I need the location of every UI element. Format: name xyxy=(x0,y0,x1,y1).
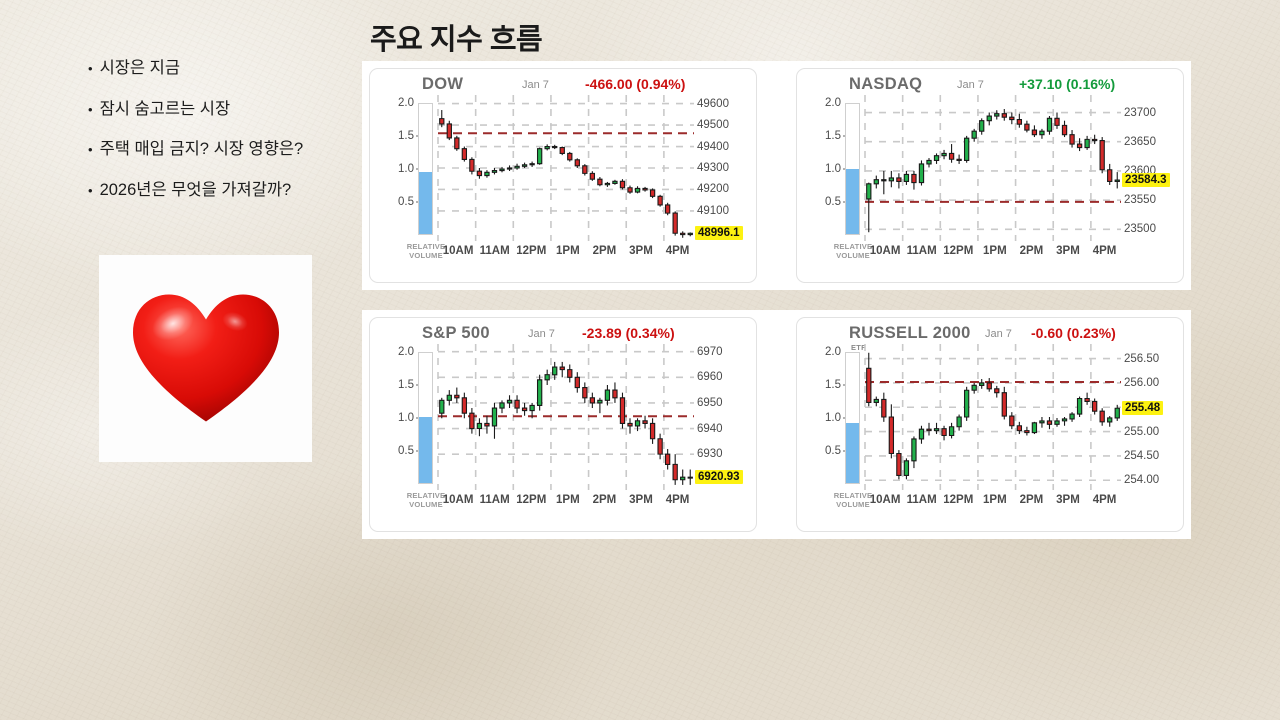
volume-tick-label: 1.5 xyxy=(805,130,841,142)
price-axis: 256.50256.00255.50255.00254.50254.00255.… xyxy=(1121,344,1181,490)
relative-volume-fill xyxy=(846,169,859,234)
time-tick-label: 10AM xyxy=(443,245,474,257)
time-tick-label: 12PM xyxy=(943,245,973,257)
relative-volume-bar xyxy=(845,352,860,484)
price-tick-label: 6960 xyxy=(697,371,723,383)
bullet-marker-icon: • xyxy=(88,184,93,197)
candlestick-plot[interactable] xyxy=(438,344,694,490)
chart-card-dow[interactable]: DOWJan 7-466.00 (0.94%)2.01.51.00.5RELAT… xyxy=(369,68,757,283)
time-tick-label: 12PM xyxy=(516,494,546,506)
relative-volume-bar xyxy=(418,103,433,235)
price-tick-label: 49200 xyxy=(697,183,729,195)
bullet-text: 2026년은 무엇을 가져갈까? xyxy=(100,180,292,201)
volume-tick-label: 1.0 xyxy=(805,163,841,175)
volume-tick-label: 1.5 xyxy=(805,379,841,391)
price-tick-label: 6930 xyxy=(697,448,723,460)
price-tick-label: 6970 xyxy=(697,346,723,358)
time-tick-label: 11AM xyxy=(907,245,937,257)
price-tick-label: 254.50 xyxy=(1124,450,1159,462)
index-subtitle: ETF xyxy=(851,343,866,352)
price-tick-label: 23550 xyxy=(1124,194,1156,206)
price-tick-label: 23700 xyxy=(1124,107,1156,119)
time-tick-label: 2PM xyxy=(593,245,617,257)
volume-tick-label: 1.0 xyxy=(378,412,414,424)
price-tick-label: 6950 xyxy=(697,397,723,409)
relative-volume-bar xyxy=(845,103,860,235)
time-tick-label: 3PM xyxy=(629,494,653,506)
price-axis: 697069606950694069306920.93 xyxy=(694,344,754,490)
volume-tick-label: 2.0 xyxy=(805,346,841,358)
chart-panel-row-top: DOWJan 7-466.00 (0.94%)2.01.51.00.5RELAT… xyxy=(362,61,1191,290)
heart-image xyxy=(99,255,312,462)
price-tick-label: 255.00 xyxy=(1124,426,1159,438)
change-value: -0.60 (0.23%) xyxy=(1031,325,1116,341)
bullet-text: 잠시 숨고르는 시장 xyxy=(100,99,231,120)
relative-volume-bar xyxy=(418,352,433,484)
volume-axis: 2.01.51.00.5 xyxy=(378,352,414,484)
chart-date: Jan 7 xyxy=(957,79,984,91)
time-tick-label: 2PM xyxy=(1020,494,1044,506)
time-tick-label: 1PM xyxy=(556,245,580,257)
relative-volume-fill xyxy=(846,423,859,483)
time-tick-label: 3PM xyxy=(629,245,653,257)
relative-volume-fill xyxy=(419,172,432,234)
price-axis: 237002365023600235502350023584.3 xyxy=(1121,95,1181,241)
page-title: 주요 지수 흐름 xyxy=(370,16,542,58)
volume-axis: 2.01.51.00.5 xyxy=(378,103,414,235)
bullet-marker-icon: • xyxy=(88,143,93,156)
last-price-badge: 255.48 xyxy=(1122,401,1163,415)
price-tick-label: 49100 xyxy=(697,205,729,217)
volume-tick-label: 0.5 xyxy=(805,445,841,457)
time-tick-label: 10AM xyxy=(870,494,901,506)
heart-icon xyxy=(131,291,281,426)
time-tick-label: 12PM xyxy=(943,494,973,506)
time-axis: 10AM11AM12PM1PM2PM3PM4PM xyxy=(438,494,694,512)
candlestick-plot[interactable] xyxy=(865,344,1121,490)
bullet-item: •2026년은 무엇을 가져갈까? xyxy=(88,180,358,201)
chart-card-nasdaq[interactable]: NASDAQJan 7+37.10 (0.16%)2.01.51.00.5REL… xyxy=(796,68,1184,283)
price-tick-label: 6940 xyxy=(697,423,723,435)
volume-tick-label: 0.5 xyxy=(805,196,841,208)
price-tick-label: 49400 xyxy=(697,141,729,153)
volume-axis: 2.01.51.00.5 xyxy=(805,352,841,484)
volume-tick-label: 1.0 xyxy=(378,163,414,175)
volume-axis: 2.01.51.00.5 xyxy=(805,103,841,235)
price-tick-label: 49600 xyxy=(697,98,729,110)
index-name: NASDAQ xyxy=(849,75,922,94)
time-tick-label: 2PM xyxy=(1020,245,1044,257)
index-name: S&P 500 xyxy=(422,324,490,343)
time-tick-label: 4PM xyxy=(1093,245,1117,257)
price-tick-label: 49500 xyxy=(697,119,729,131)
candlestick-plot[interactable] xyxy=(865,95,1121,241)
candlestick-plot[interactable] xyxy=(438,95,694,241)
time-tick-label: 3PM xyxy=(1056,494,1080,506)
volume-tick-label: 0.5 xyxy=(378,196,414,208)
chart-panel-row-bottom: S&P 500Jan 7-23.89 (0.34%)2.01.51.00.5RE… xyxy=(362,310,1191,539)
time-tick-label: 1PM xyxy=(983,245,1007,257)
price-tick-label: 23650 xyxy=(1124,136,1156,148)
time-axis: 10AM11AM12PM1PM2PM3PM4PM xyxy=(865,245,1121,263)
volume-tick-label: 1.5 xyxy=(378,379,414,391)
time-tick-label: 12PM xyxy=(516,245,546,257)
relative-volume-fill xyxy=(419,417,432,483)
index-name: RUSSELL 2000 xyxy=(849,324,971,343)
time-axis: 10AM11AM12PM1PM2PM3PM4PM xyxy=(438,245,694,263)
change-value: +37.10 (0.16%) xyxy=(1019,76,1115,92)
bullet-list: •시장은 지금•잠시 숨고르는 시장•주택 매입 금지? 시장 영향은?•202… xyxy=(88,58,358,221)
bullet-marker-icon: • xyxy=(88,62,93,75)
time-tick-label: 1PM xyxy=(983,494,1007,506)
price-tick-label: 49300 xyxy=(697,162,729,174)
last-price-badge: 23584.3 xyxy=(1122,173,1170,187)
price-tick-label: 256.50 xyxy=(1124,353,1159,365)
volume-tick-label: 2.0 xyxy=(805,97,841,109)
bullet-text: 시장은 지금 xyxy=(100,58,180,79)
time-tick-label: 4PM xyxy=(666,245,690,257)
time-tick-label: 11AM xyxy=(907,494,937,506)
price-tick-label: 254.00 xyxy=(1124,474,1159,486)
time-tick-label: 10AM xyxy=(870,245,901,257)
price-tick-label: 256.00 xyxy=(1124,377,1159,389)
bullet-marker-icon: • xyxy=(88,103,93,116)
volume-tick-label: 1.5 xyxy=(378,130,414,142)
last-price-badge: 48996.1 xyxy=(695,226,743,240)
chart-date: Jan 7 xyxy=(528,328,555,340)
time-tick-label: 4PM xyxy=(666,494,690,506)
volume-tick-label: 1.0 xyxy=(805,412,841,424)
bullet-item: •잠시 숨고르는 시장 xyxy=(88,99,358,120)
volume-tick-label: 2.0 xyxy=(378,97,414,109)
time-axis: 10AM11AM12PM1PM2PM3PM4PM xyxy=(865,494,1121,512)
last-price-badge: 6920.93 xyxy=(695,470,743,484)
change-value: -466.00 (0.94%) xyxy=(585,76,685,92)
time-tick-label: 11AM xyxy=(480,494,510,506)
bullet-item: •주택 매입 금지? 시장 영향은? xyxy=(88,139,358,160)
chart-date: Jan 7 xyxy=(985,328,1012,340)
time-tick-label: 1PM xyxy=(556,494,580,506)
volume-tick-label: 0.5 xyxy=(378,445,414,457)
time-tick-label: 4PM xyxy=(1093,494,1117,506)
time-tick-label: 10AM xyxy=(443,494,474,506)
index-name: DOW xyxy=(422,75,463,94)
volume-tick-label: 2.0 xyxy=(378,346,414,358)
chart-date: Jan 7 xyxy=(522,79,549,91)
price-axis: 49600495004940049300492004910048996.1 xyxy=(694,95,754,241)
chart-card-russell2000[interactable]: RUSSELL 2000ETFJan 7-0.60 (0.23%)2.01.51… xyxy=(796,317,1184,532)
time-tick-label: 2PM xyxy=(593,494,617,506)
time-tick-label: 11AM xyxy=(480,245,510,257)
change-value: -23.89 (0.34%) xyxy=(582,325,675,341)
price-tick-label: 23500 xyxy=(1124,223,1156,235)
time-tick-label: 3PM xyxy=(1056,245,1080,257)
chart-card-sp500[interactable]: S&P 500Jan 7-23.89 (0.34%)2.01.51.00.5RE… xyxy=(369,317,757,532)
bullet-text: 주택 매입 금지? 시장 영향은? xyxy=(100,139,304,160)
bullet-item: •시장은 지금 xyxy=(88,58,358,79)
